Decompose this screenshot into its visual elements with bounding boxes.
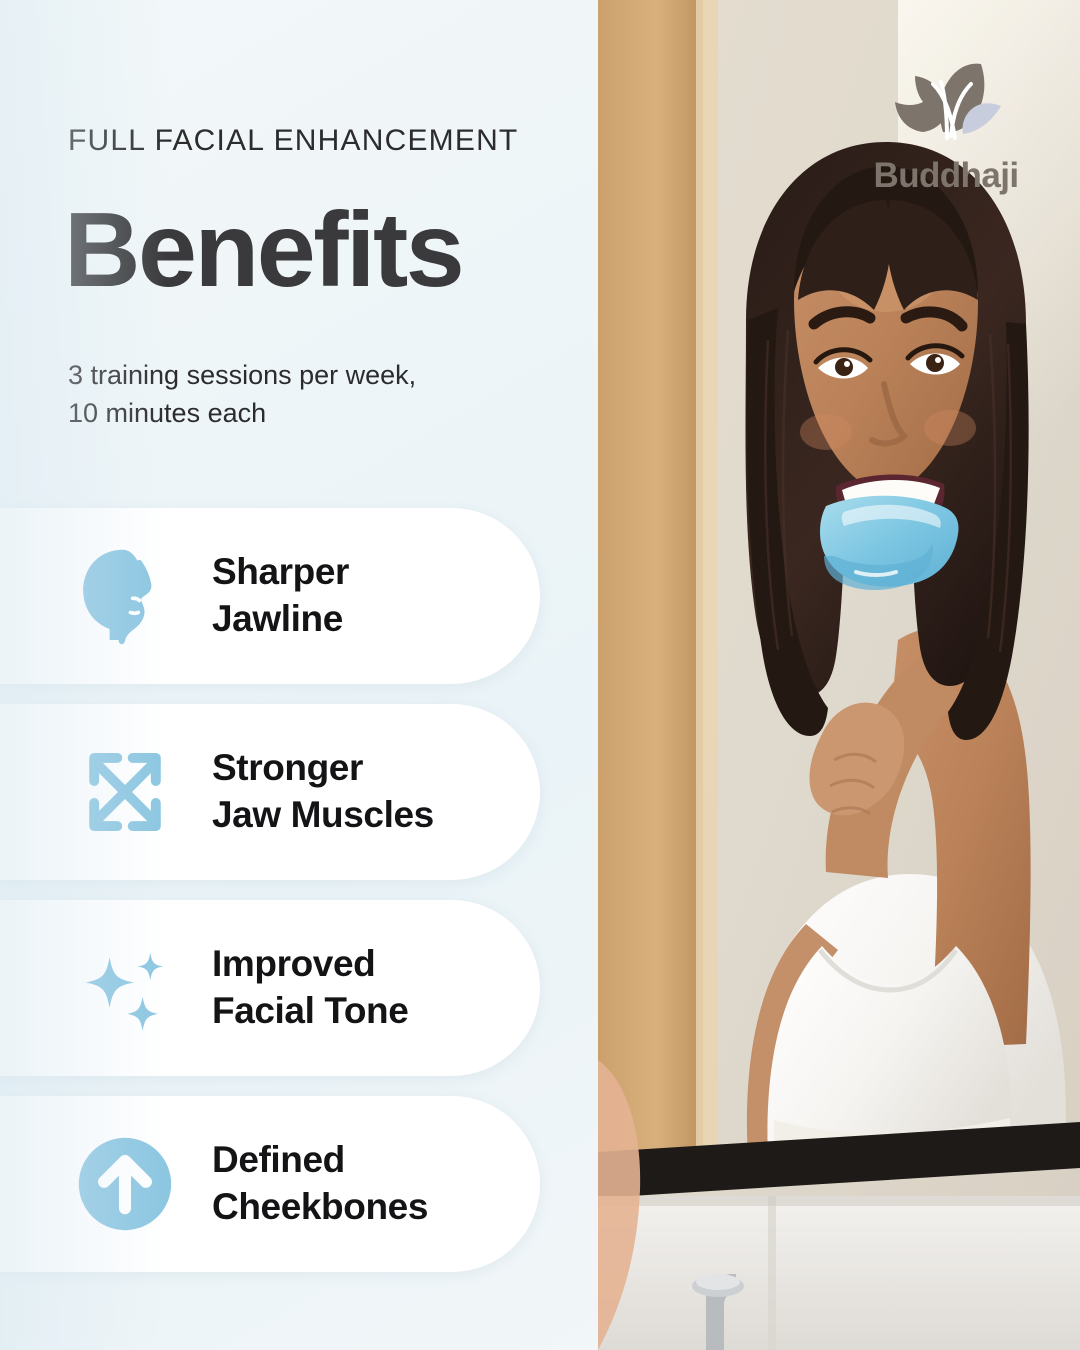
benefits-list: Sharper Jawline [0,508,598,1292]
page-title: Benefits [64,196,462,304]
arrow-up-circle-icon [70,1129,180,1239]
benefit-card-defined-cheekbones[interactable]: Defined Cheekbones [0,1096,540,1272]
benefit-label: Defined Cheekbones [212,1137,428,1230]
benefit-label: Stronger Jaw Muscles [212,745,434,838]
benefit-label: Sharper Jawline [212,549,349,642]
eyebrow-label: FULL FACIAL ENHANCEMENT [68,124,518,158]
sparkles-icon [70,933,180,1043]
subtitle-text: 3 training sessions per week, 10 minutes… [68,356,416,433]
lotus-leaf-logo-icon [885,58,1007,144]
benefits-social-graphic: FULL FACIAL ENHANCEMENT Benefits 3 train… [0,0,1080,1350]
expand-arrows-icon [70,737,180,847]
benefit-label: Improved Facial Tone [212,941,408,1034]
face-profile-icon [70,541,180,651]
left-content-panel: FULL FACIAL ENHANCEMENT Benefits 3 train… [0,0,598,1350]
benefit-card-improved-facial-tone[interactable]: Improved Facial Tone [0,900,540,1076]
benefit-card-stronger-jaw-muscles[interactable]: Stronger Jaw Muscles [0,704,540,880]
brand-name: Buddhaji [874,156,1019,196]
brand-logo: Buddhaji [848,58,1044,196]
photo-illustration [598,0,1080,1350]
benefit-card-sharper-jawline[interactable]: Sharper Jawline [0,508,540,684]
product-photo: Buddhaji [598,0,1080,1350]
